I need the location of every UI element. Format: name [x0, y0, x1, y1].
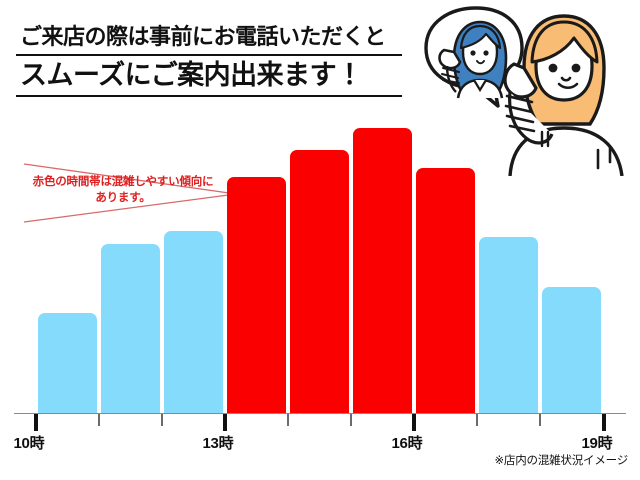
axis-tick-8: [539, 414, 541, 426]
annotation-text: 赤色の時間帯は混雑しやすい傾向に あります。: [12, 174, 234, 206]
headline-divider-top: [16, 54, 402, 56]
axis-label-19時: 19時: [582, 432, 613, 453]
axis-tick-1: [98, 414, 100, 426]
bar-11時: [101, 244, 160, 413]
axis-label-10時: 10時: [14, 432, 45, 453]
bar-17時: [479, 237, 538, 413]
busy-hours-annotation: 赤色の時間帯は混雑しやすい傾向に あります。: [4, 160, 252, 226]
x-axis-line: [14, 413, 626, 414]
headline-line-2: スムーズにご案内出来ます！: [16, 57, 406, 93]
phone-call-illustration: [414, 0, 640, 176]
axis-tick-7: [476, 414, 478, 426]
bar-18時: [542, 287, 601, 413]
headline-divider-bottom: [16, 95, 402, 97]
headline-line-1: ご来店の際は事前にお電話いただくと: [16, 22, 406, 52]
bar-16時: [416, 168, 475, 413]
chart-footnote: ※店内の混雑状況イメージ: [494, 452, 628, 468]
axis-tick-0: [34, 414, 38, 431]
axis-tick-3: [223, 414, 227, 431]
poster-canvas: ご来店の際は事前にお電話いただくと スムーズにご案内出来ます！ 赤色の時間帯は混…: [0, 0, 640, 480]
bar-14時: [290, 150, 349, 413]
axis-label-13時: 13時: [203, 432, 234, 453]
annotation-text-line-2: あります。: [12, 190, 234, 206]
axis-label-16時: 16時: [392, 432, 423, 453]
axis-tick-4: [287, 414, 289, 426]
axis-tick-5: [350, 414, 352, 426]
headline-block: ご来店の際は事前にお電話いただくと スムーズにご案内出来ます！: [16, 22, 406, 97]
axis-tick-6: [412, 414, 416, 431]
axis-tick-9: [602, 414, 606, 431]
bar-15時: [353, 128, 412, 413]
bar-10時: [38, 313, 97, 413]
axis-tick-2: [161, 414, 163, 426]
annotation-text-line-1: 赤色の時間帯は混雑しやすい傾向に: [12, 174, 234, 190]
bar-12時: [164, 231, 223, 413]
